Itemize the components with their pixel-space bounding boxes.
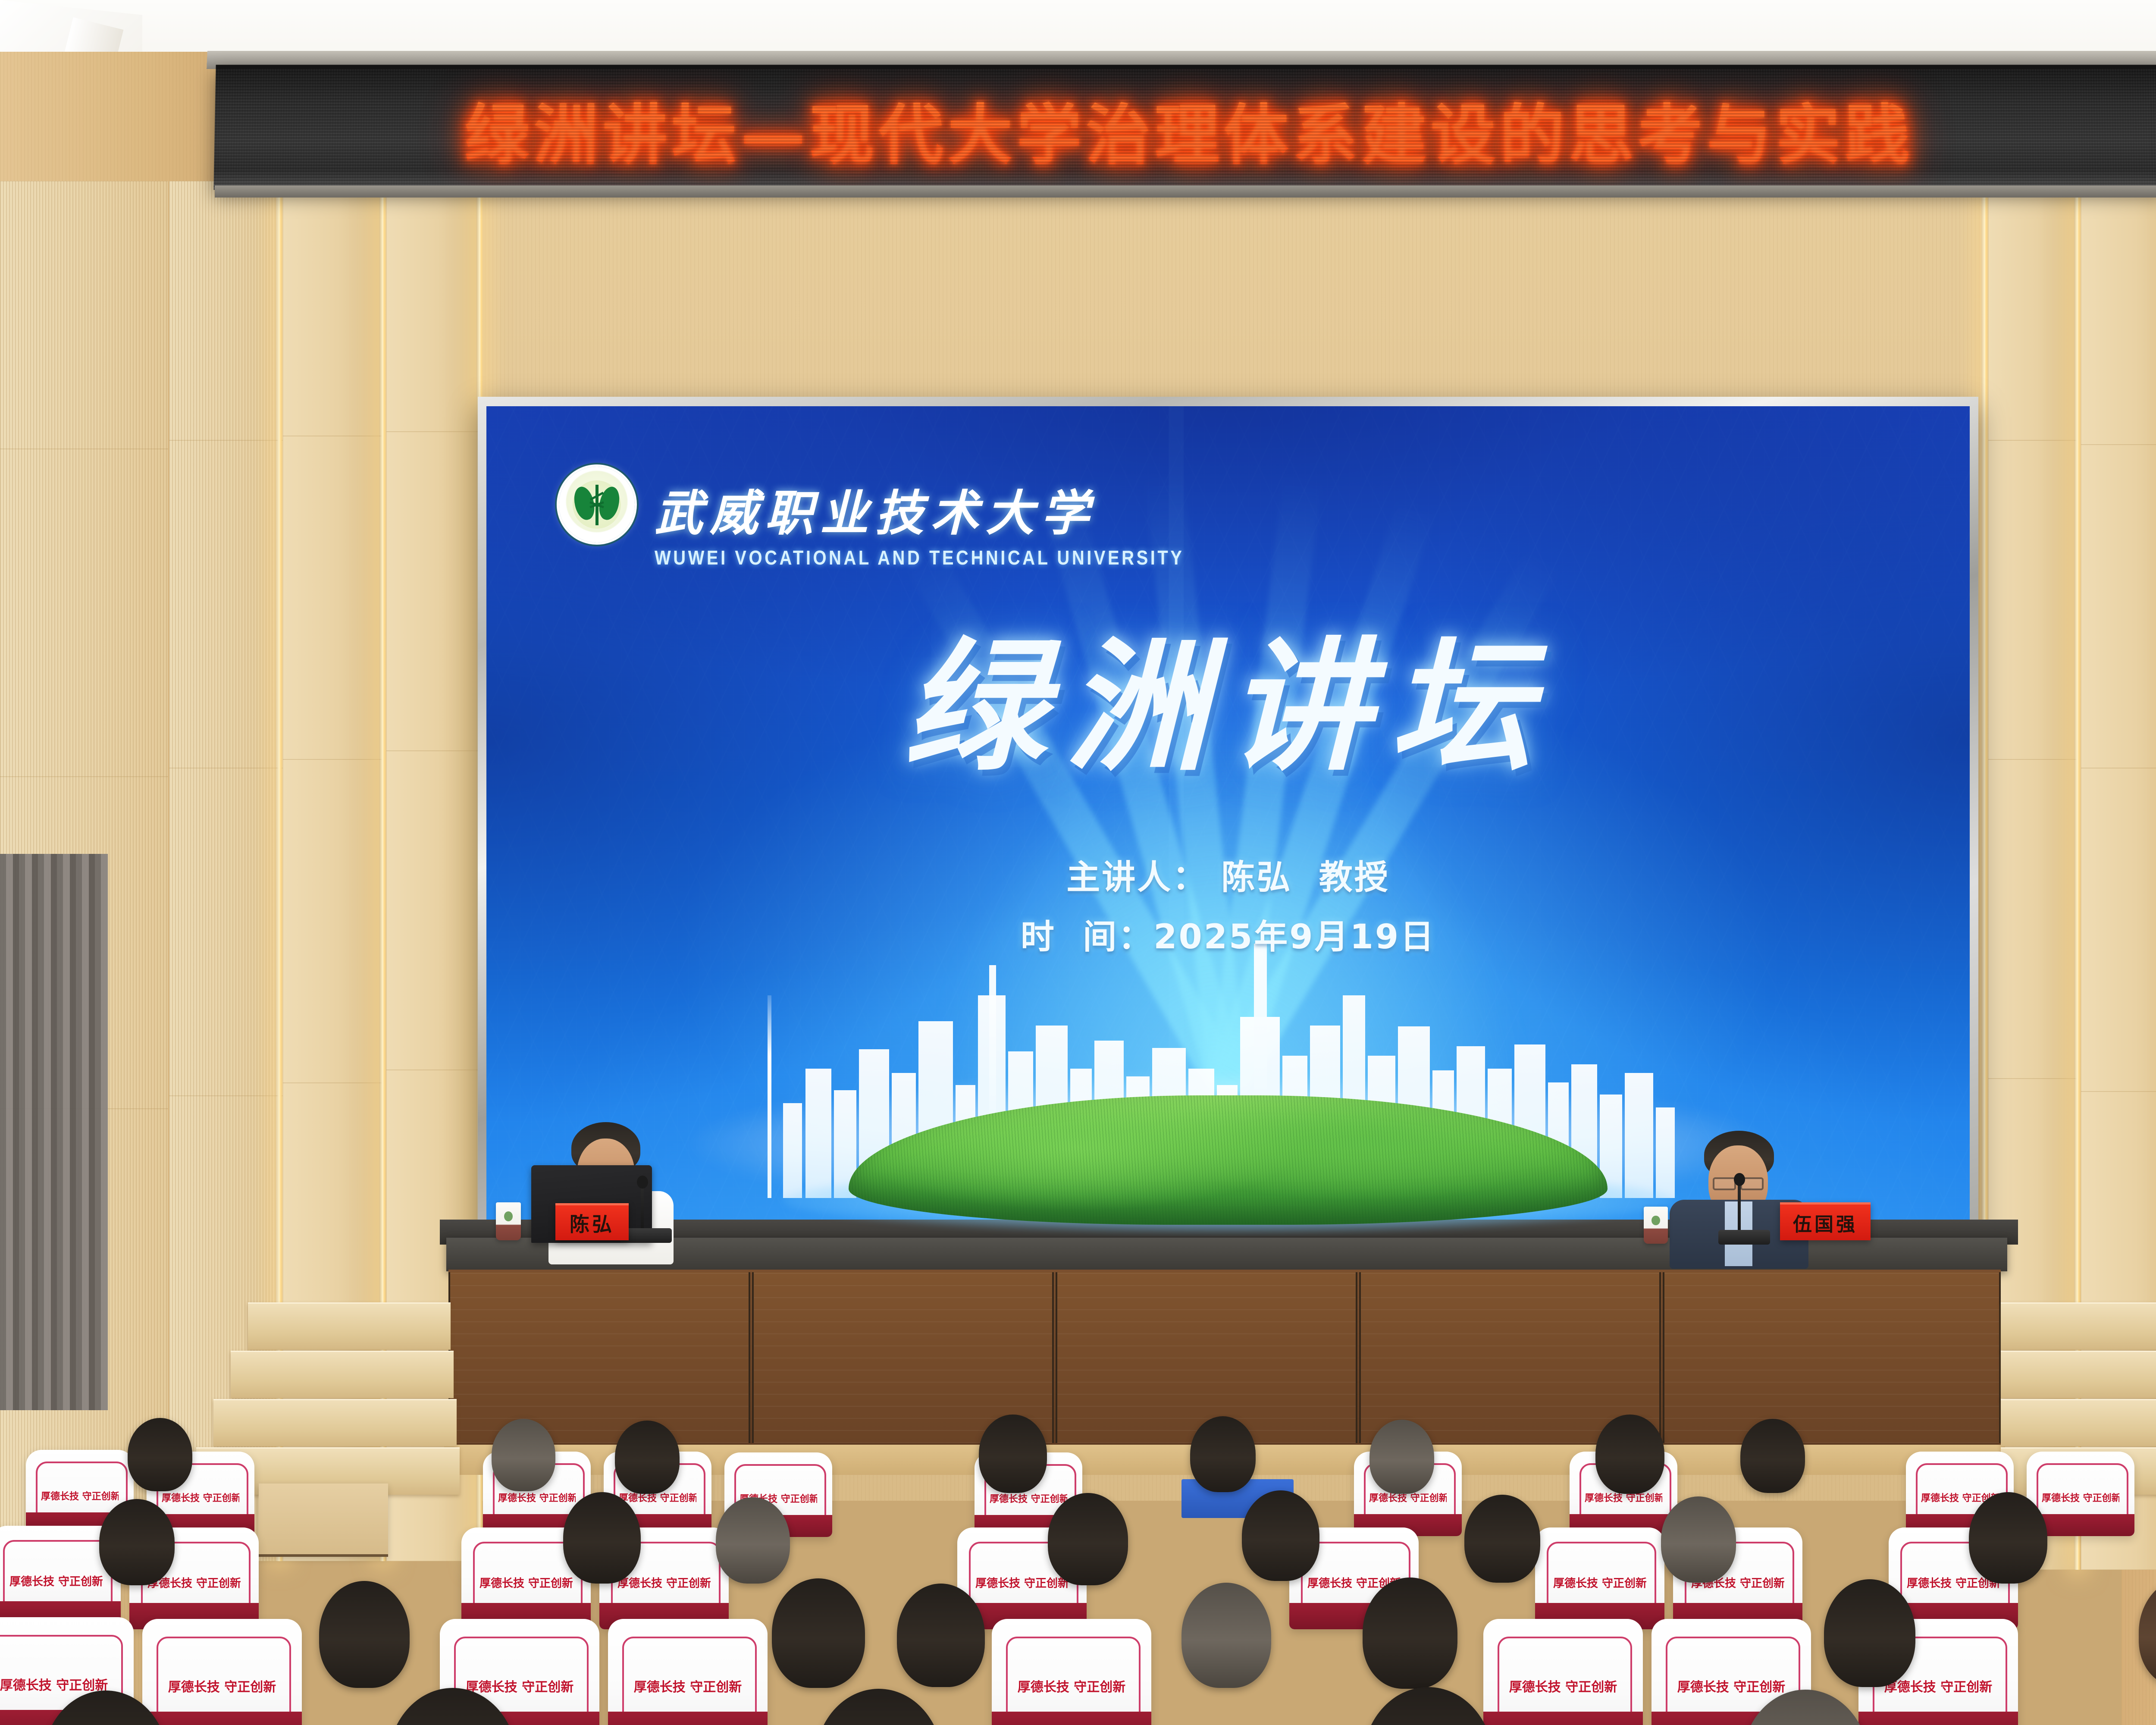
seat-motto: 厚德长技 守正创新 <box>462 1676 577 1695</box>
seat[interactable]: 厚德长技 守正创新 <box>142 1619 302 1725</box>
audience-person-head <box>1048 1493 1128 1585</box>
audience-person-head <box>1181 1583 1271 1688</box>
paper-cup-right <box>1644 1207 1668 1244</box>
seat-motto: 厚德长技 守正创新 <box>1553 1574 1646 1590</box>
seat-motto: 厚德长技 守正创新 <box>165 1676 279 1695</box>
audience-person-head <box>128 1418 192 1491</box>
audience-person-head <box>615 1421 680 1494</box>
seat[interactable]: 厚德长技 守正创新 <box>1535 1527 1664 1629</box>
seat-motto: 厚德长技 守正创新 <box>1014 1676 1129 1695</box>
presenter-right-glasses <box>1713 1177 1736 1190</box>
nameplate-left: 陈弘 <box>555 1203 629 1240</box>
audience-person-head <box>1969 1492 2047 1584</box>
led-screen-frame: 武威职业技术大学 WUWEI VOCATIONAL AND TECHNICAL … <box>478 397 1978 1242</box>
audience-person-head <box>1242 1490 1319 1581</box>
seat-motto: 厚德长技 守正创新 <box>1506 1676 1620 1695</box>
screen-main-title: 绿洲讲坛 <box>486 592 1970 798</box>
audience-person-head <box>979 1414 1047 1493</box>
seat-motto: 厚德长技 守正创新 <box>617 1574 711 1590</box>
seat-motto: 厚德长技 守正创新 <box>975 1574 1069 1590</box>
audience-area: 厚德长技 守正创新 厚德长技 守正创新 厚德长技 守正创新 厚德长技 守正创新 … <box>0 1414 2156 1725</box>
seat-motto: 厚德长技 守正创新 <box>1674 1676 1789 1695</box>
microphone-base-right <box>1718 1230 1770 1245</box>
seat-motto: 厚德长技 守正创新 <box>630 1676 745 1695</box>
led-marquee-banner: 绿洲讲坛—现代大学治理体系建设的思考与实践 <box>213 65 2156 190</box>
seat-motto: 厚德长技 守正创新 <box>0 1675 111 1694</box>
seat-motto: 厚德长技 守正创新 <box>162 1490 239 1504</box>
nameplate-left-text: 陈弘 <box>570 1209 614 1237</box>
audience-person-head <box>492 1419 555 1491</box>
university-name-cn: 武威职业技术大学 <box>655 474 1184 544</box>
audience-person-head <box>1464 1495 1540 1583</box>
banner-bottom-rail <box>215 185 2156 198</box>
nameplate-right: 伍国强 <box>1780 1202 1871 1240</box>
screen-detail-lines: 主讲人： 陈弘 教授 时 间：2025年9月19日 <box>486 850 1970 958</box>
audience-person-head <box>897 1584 985 1687</box>
speaker-line: 主讲人： 陈弘 教授 <box>1066 850 1389 899</box>
audience-person-head <box>1363 1578 1457 1689</box>
seat-motto: 厚德长技 守正创新 <box>479 1574 573 1590</box>
seat-motto: 厚德长技 守正创新 <box>498 1490 576 1504</box>
audience-person-head <box>1369 1420 1434 1494</box>
seat[interactable]: 厚德长技 守正创新 <box>608 1619 768 1725</box>
seat[interactable]: 厚德长技 守正创新 <box>992 1619 1151 1725</box>
audience-person-head <box>1661 1496 1736 1583</box>
date-line: 时 间：2025年9月19日 <box>1021 910 1435 958</box>
audience-person-head <box>1824 1579 1915 1687</box>
nameplate-right-text: 伍国强 <box>1793 1209 1858 1236</box>
seat-motto: 厚德长技 守正创新 <box>2042 1490 2119 1504</box>
audience-person-head <box>2139 1578 2156 1687</box>
audience-person-head <box>1595 1414 1664 1494</box>
seat-motto: 厚德长技 守正创新 <box>990 1491 1067 1505</box>
university-name-en: WUWEI VOCATIONAL AND TECHNICAL UNIVERSIT… <box>655 547 1184 570</box>
seat-motto: 厚德长技 守正创新 <box>41 1489 119 1502</box>
paper-cup-left <box>496 1202 521 1240</box>
presentation-screen: 武威职业技术大学 WUWEI VOCATIONAL AND TECHNICAL … <box>486 406 1970 1236</box>
audience-person-head <box>716 1497 790 1584</box>
audience-person-head <box>815 1689 943 1725</box>
audience-person-head <box>319 1581 410 1688</box>
led-banner-text: 绿洲讲坛—现代大学治理体系建设的思考与实践 <box>464 83 1914 176</box>
microphone-head-right <box>1734 1173 1745 1186</box>
university-logo-block: 武威职业技术大学 WUWEI VOCATIONAL AND TECHNICAL … <box>559 467 1184 568</box>
side-curtain <box>0 854 108 1410</box>
seat-motto: 厚德长技 守正创新 <box>9 1573 103 1589</box>
university-crest-icon <box>559 467 635 543</box>
audience-person-head <box>1190 1416 1256 1492</box>
audience-person-head <box>1740 1419 1805 1493</box>
microphone-head-left <box>637 1176 648 1189</box>
lecture-hall-scene: 绿洲讲坛—现代大学治理体系建设的思考与实践 <box>0 0 2156 1725</box>
audience-person-head <box>99 1499 175 1585</box>
audience-person-head <box>772 1578 865 1688</box>
seat[interactable]: 厚德长技 守正创新 <box>1483 1619 1643 1725</box>
audience-person-head <box>1363 1687 1494 1725</box>
audience-person-head <box>563 1492 641 1584</box>
